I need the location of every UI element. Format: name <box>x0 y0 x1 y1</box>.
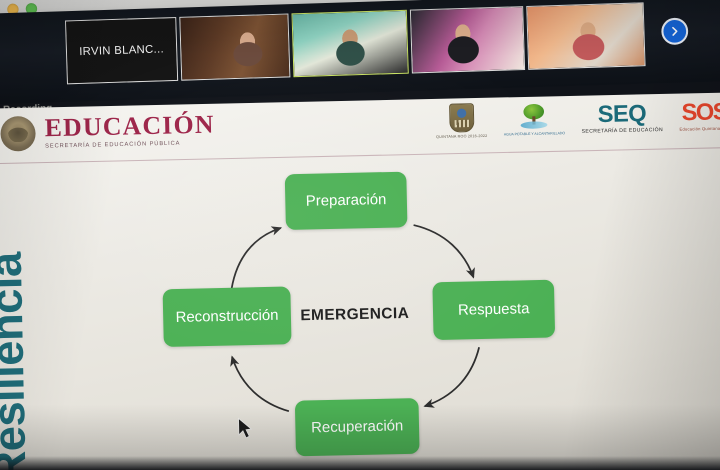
cycle-node-respuesta[interactable]: Respuesta <box>432 280 555 340</box>
participant-tile[interactable] <box>410 6 525 73</box>
chevron-right-icon <box>668 25 681 38</box>
emergency-cycle-diagram: Preparación Respuesta Recuperación Recon… <box>0 92 720 470</box>
participant-tile[interactable] <box>526 2 645 70</box>
participant-video <box>293 11 408 76</box>
screenshot-root: Reunión de Videoconferencia IRVIN BLANC.… <box>0 0 720 470</box>
mouse-cursor-icon <box>239 418 252 438</box>
participant-video <box>411 7 524 72</box>
cycle-node-preparacion[interactable]: Preparación <box>285 172 408 230</box>
participant-video <box>527 3 644 68</box>
arrow-reconstruccion-to-preparacion <box>229 228 282 295</box>
cycle-node-reconstruccion[interactable]: Reconstrucción <box>163 286 292 346</box>
participant-filmstrip: IRVIN BLANC... <box>0 0 720 105</box>
cycle-node-recuperacion[interactable]: Recuperación <box>295 398 420 456</box>
participant-tiles: IRVIN BLANC... <box>65 2 646 84</box>
presentation-slide: EDUCACIÓN SECRETARÍA DE EDUCACIÓN PÚBLIC… <box>0 92 720 470</box>
cycle-center-label: EMERGENCIA <box>298 304 412 324</box>
laptop-screen: Reunión de Videoconferencia IRVIN BLANC.… <box>0 0 720 470</box>
arrow-preparacion-to-respuesta <box>414 224 474 279</box>
arrow-recuperacion-to-reconstruccion <box>232 356 289 413</box>
participant-tile-active-speaker[interactable] <box>291 10 408 77</box>
participant-tile[interactable]: IRVIN BLANC... <box>65 17 178 84</box>
participant-tile[interactable] <box>179 13 290 80</box>
participant-video <box>180 15 289 80</box>
arrow-respuesta-to-recuperacion <box>424 347 481 406</box>
